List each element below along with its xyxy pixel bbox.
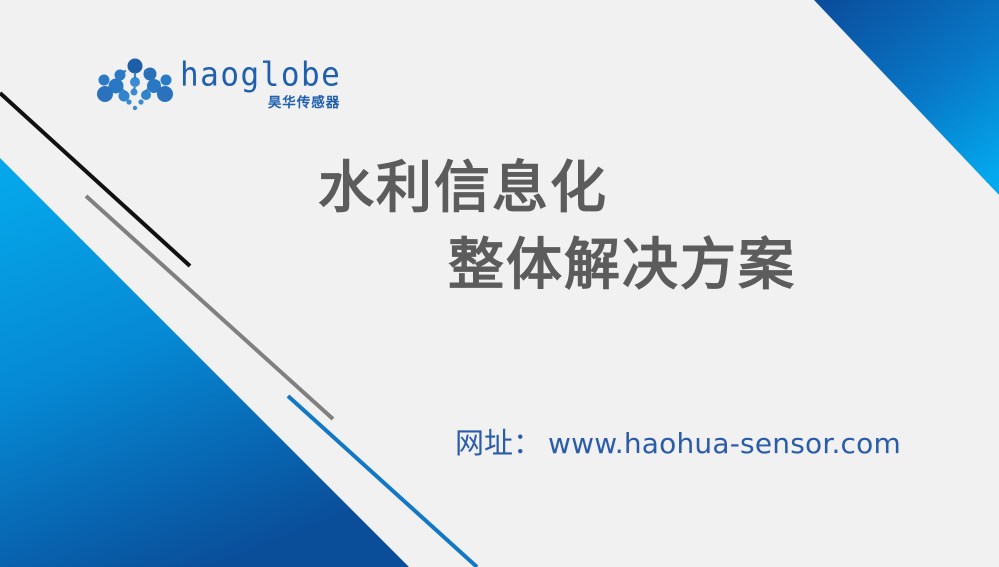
logo-subtitle: 昊华传感器 — [268, 97, 341, 111]
website-url[interactable]: www.haohua-sensor.com — [548, 427, 901, 460]
haoglobe-node-cluster-logo-icon — [96, 58, 174, 116]
logo-wordmark: haoglobe — [180, 59, 341, 92]
website-line: 网址： www.haohua-sensor.com — [455, 420, 901, 462]
title-slide: haoglobe 昊华传感器 水利信息化 整体解决方案 网址： www.haoh… — [0, 0, 999, 567]
logo-text-group: haoglobe 昊华传感器 — [180, 61, 341, 113]
brand-logo: haoglobe 昊华传感器 — [96, 58, 341, 116]
website-label: 网址： — [455, 420, 542, 462]
